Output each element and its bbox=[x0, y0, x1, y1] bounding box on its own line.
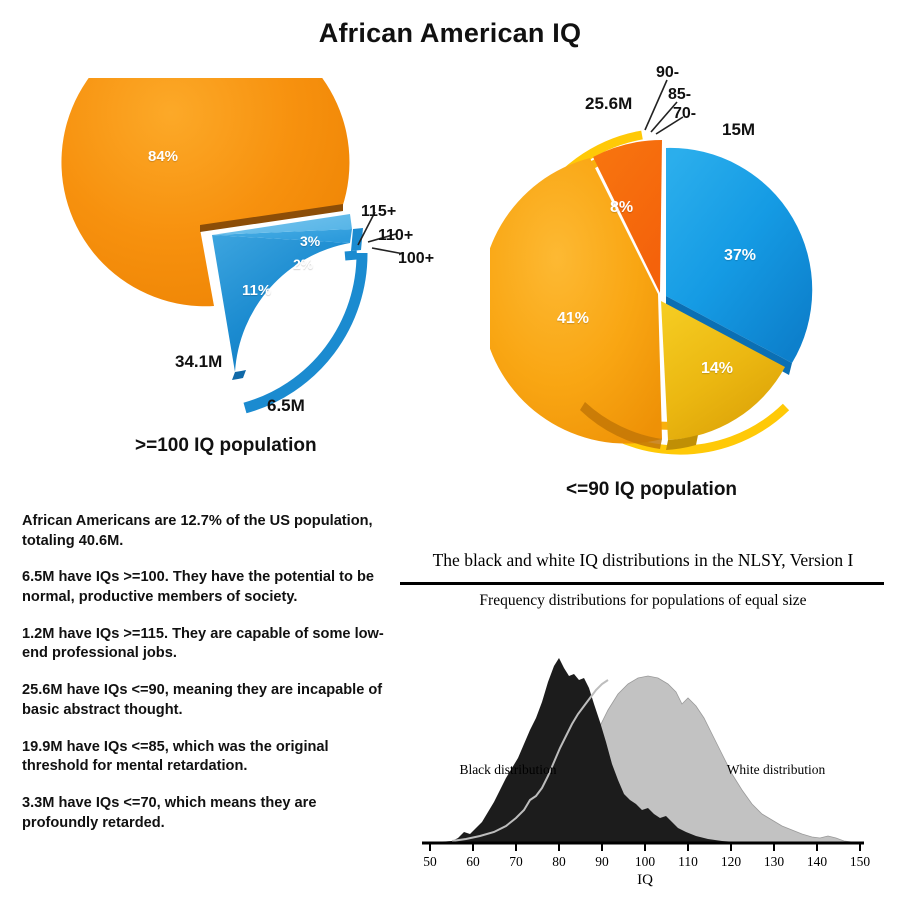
right-pie-label-8: 8% bbox=[610, 199, 633, 217]
x-axis-label: IQ bbox=[615, 872, 675, 889]
nlsy-divider bbox=[400, 582, 884, 585]
x-tick-50: 50 bbox=[413, 854, 447, 870]
left-pie-label-3: 3% bbox=[300, 233, 320, 249]
nlsy-distribution-panel: The black and white IQ distributions in … bbox=[396, 542, 888, 892]
fact-item: 25.6M have IQs <=90, meaning they are in… bbox=[22, 681, 387, 720]
x-tick-140: 140 bbox=[800, 854, 834, 870]
x-tick-80: 80 bbox=[542, 854, 576, 870]
right-callout-90: 90- bbox=[656, 64, 679, 82]
black-distribution-label: Black distribution bbox=[458, 762, 558, 778]
infographic-root: African American IQ bbox=[0, 0, 900, 900]
fact-item: African Americans are 12.7% of the US po… bbox=[22, 512, 387, 551]
left-annotation-6-5m: 6.5M bbox=[267, 396, 305, 416]
left-annotation-34-1m: 34.1M bbox=[175, 352, 222, 372]
white-distribution-label-text: White distribution bbox=[727, 762, 826, 777]
x-tick-70: 70 bbox=[499, 854, 533, 870]
slice-below-100[interactable] bbox=[61, 78, 355, 308]
right-pie-caption: <=90 IQ population bbox=[566, 479, 737, 501]
left-pie-caption: >=100 IQ population bbox=[135, 435, 317, 457]
nlsy-subtitle: Frequency distributions for populations … bbox=[400, 592, 886, 610]
x-tick-60: 60 bbox=[456, 854, 490, 870]
black-distribution-label-text: Black distribution bbox=[459, 762, 556, 777]
nlsy-plot-area: Black distribution White distribution 50… bbox=[396, 618, 888, 892]
x-tick-110: 110 bbox=[671, 854, 705, 870]
right-callout-70: 70- bbox=[673, 105, 696, 123]
left-callout-115: 115+ bbox=[361, 203, 396, 221]
left-pie-label-2: 2% bbox=[293, 256, 313, 272]
right-pie-label-37: 37% bbox=[724, 247, 756, 265]
fact-item: 1.2M have IQs >=115. They are capable of… bbox=[22, 625, 387, 664]
fact-item: 3.3M have IQs <=70, which means they are… bbox=[22, 794, 387, 833]
nlsy-title: The black and white IQ distributions in … bbox=[400, 550, 886, 571]
left-callout-100: 100+ bbox=[398, 250, 434, 268]
right-pie-label-41: 41% bbox=[557, 310, 589, 328]
right-pie-label-14: 14% bbox=[701, 360, 733, 378]
facts-text-block: African Americans are 12.7% of the US po… bbox=[22, 512, 387, 833]
white-distribution-label: White distribution bbox=[726, 762, 826, 778]
fact-item: 19.9M have IQs <=85, which was the origi… bbox=[22, 738, 387, 777]
x-tick-100: 100 bbox=[628, 854, 662, 870]
left-pie-label-11: 11% bbox=[242, 282, 271, 299]
right-annotation-15m: 15M bbox=[722, 120, 755, 140]
right-annotation-25-6m: 25.6M bbox=[585, 94, 632, 114]
nlsy-plot-svg bbox=[396, 618, 888, 892]
x-tick-130: 130 bbox=[757, 854, 791, 870]
x-tick-150: 150 bbox=[843, 854, 877, 870]
x-tick-120: 120 bbox=[714, 854, 748, 870]
left-pie-label-84: 84% bbox=[148, 148, 178, 165]
left-callout-110: 110+ bbox=[378, 227, 413, 245]
page-title: African American IQ bbox=[0, 18, 900, 49]
fact-item: 6.5M have IQs >=100. They have the poten… bbox=[22, 568, 387, 607]
right-callout-85: 85- bbox=[668, 86, 691, 104]
x-tick-90: 90 bbox=[585, 854, 619, 870]
